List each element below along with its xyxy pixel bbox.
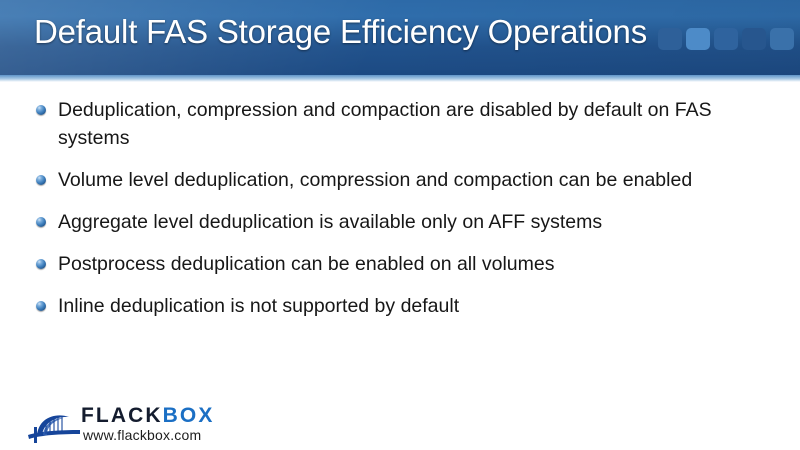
page-title: Default FAS Storage Efficiency Operation… [34,13,647,51]
list-item: Postprocess deduplication can be enabled… [0,250,800,278]
logo-url: www.flackbox.com [83,427,201,443]
list-item: Volume level deduplication, compression … [0,166,800,194]
deco-square-3 [714,28,738,50]
list-item-label: Volume level deduplication, compression … [58,166,770,194]
header-decor-squares [658,28,794,50]
slide-title-bar: Default FAS Storage Efficiency Operation… [0,0,800,75]
deco-square-2 [686,28,710,50]
deco-square-4 [742,28,766,50]
bridge-icon [27,405,83,445]
list-item-label: Deduplication, compression and compactio… [58,96,770,152]
list-item-label: Aggregate level deduplication is availab… [58,208,770,236]
bullet-sphere-icon [36,105,46,115]
deco-square-5 [770,28,794,50]
list-item: Inline deduplication is not supported by… [0,292,800,320]
slide-body: Deduplication, compression and compactio… [0,96,800,320]
list-item: Deduplication, compression and compactio… [0,96,800,152]
list-item: Aggregate level deduplication is availab… [0,208,800,236]
list-item-label: Inline deduplication is not supported by… [58,292,770,320]
bullet-sphere-icon [36,301,46,311]
deco-square-1 [658,28,682,50]
bullet-sphere-icon [36,259,46,269]
bullet-sphere-icon [36,217,46,227]
logo-name-primary: FLACK [81,404,163,427]
title-underline-band [0,75,800,82]
flackbox-logo: FLACKBOX www.flackbox.com [27,403,207,447]
logo-wordmark: FLACKBOX [81,405,214,427]
list-item-label: Postprocess deduplication can be enabled… [58,250,770,278]
slide: Default FAS Storage Efficiency Operation… [0,0,800,450]
logo-name-secondary: BOX [163,404,215,427]
bullet-sphere-icon [36,175,46,185]
